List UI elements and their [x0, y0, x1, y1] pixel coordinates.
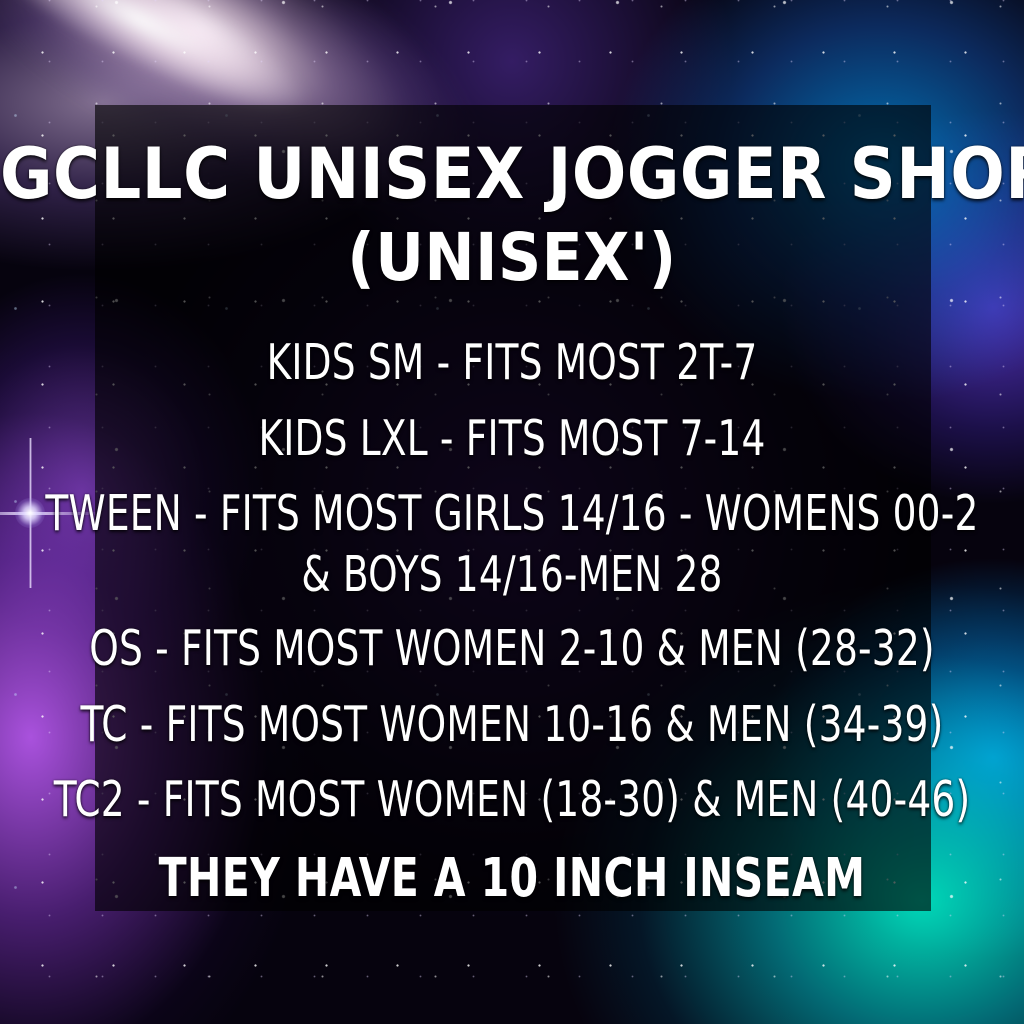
text-content-layer: GCLLC UNISEX JOGGER SHORTS (UNISEX') KID… — [0, 0, 1024, 1024]
size-chart-graphic: GCLLC UNISEX JOGGER SHORTS (UNISEX') KID… — [0, 0, 1024, 1024]
page-title-line-2: (UNISEX') — [0, 225, 1024, 291]
size-row-tween: TWEEN - FITS MOST GIRLS 14/16 - WOMENS 0… — [15, 486, 1008, 543]
size-row-kids-lxl: KIDS LXL - FITS MOST 7-14 — [15, 411, 1008, 468]
page-title-line-1: GCLLC UNISEX JOGGER SHORTS — [0, 140, 1024, 210]
size-row-tween-continued: & BOYS 14/16-MEN 28 — [15, 547, 1008, 604]
size-row-tc2: TC2 - FITS MOST WOMEN (18-30) & MEN (40-… — [15, 772, 1008, 829]
size-row-os: OS - FITS MOST WOMEN 2-10 & MEN (28-32) — [15, 621, 1008, 678]
inseam-note: THEY HAVE A 10 INCH INSEAM — [15, 847, 1008, 909]
size-row-tc: TC - FITS MOST WOMEN 10-16 & MEN (34-39) — [15, 697, 1008, 754]
size-row-kids-sm: KIDS SM - FITS MOST 2T-7 — [15, 335, 1008, 392]
